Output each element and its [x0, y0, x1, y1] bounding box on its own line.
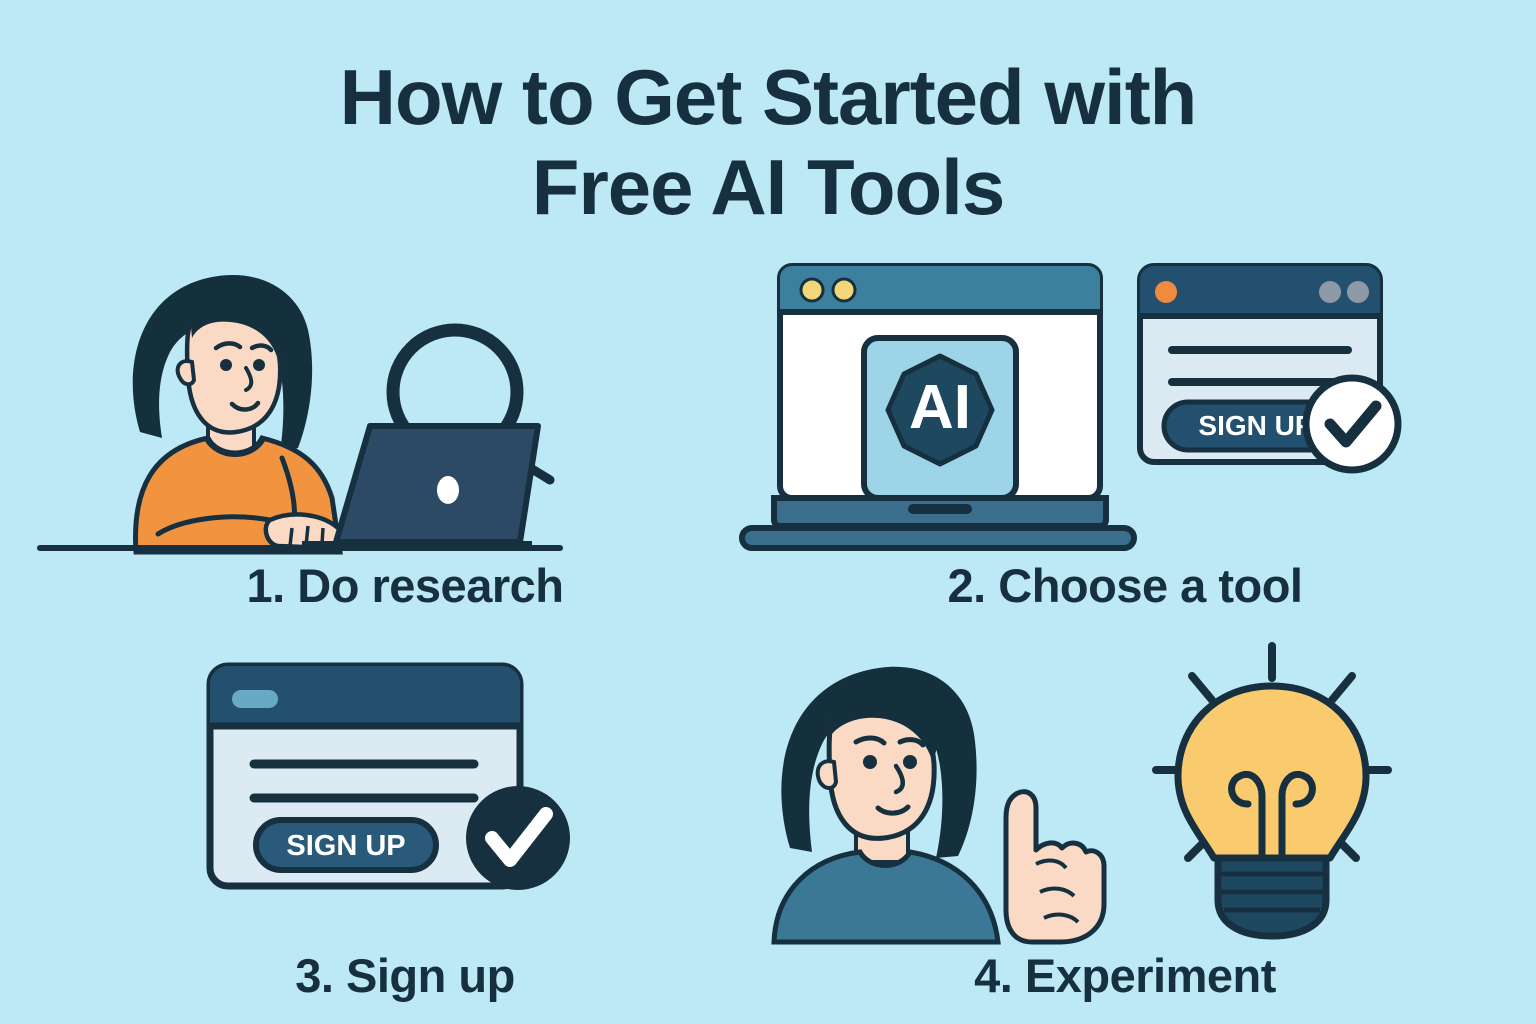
- signup-button-label: SIGN UP: [286, 830, 405, 862]
- ray-top-right: [1332, 676, 1352, 700]
- step-2-illustration: AI: [760, 252, 1490, 552]
- window-dot-orange: [1155, 281, 1177, 303]
- title-line-2: Free AI Tools: [0, 148, 1536, 228]
- ai-logo-icon: AI: [888, 356, 992, 464]
- window-dot-gray-1: [1319, 281, 1341, 303]
- step-3: SIGN UP 3. Sign up: [40, 642, 770, 1012]
- laptop-with-ai-window: AI: [742, 266, 1134, 548]
- check-badge-icon: [1306, 378, 1398, 470]
- step-3-caption: 3. Sign up: [40, 948, 770, 1003]
- signup-window: SIGN UP: [210, 666, 570, 890]
- step-3-illustration: SIGN UP: [40, 642, 770, 942]
- step-2: AI: [760, 252, 1490, 622]
- check-badge-icon: [466, 786, 570, 890]
- step-1-illustration: [40, 252, 770, 552]
- step-4-illustration: [760, 642, 1490, 942]
- page-title: How to Get Started with Free AI Tools: [0, 58, 1536, 227]
- step-1-caption: 1. Do research: [40, 558, 770, 613]
- window-dot-yellow-1: [801, 279, 823, 301]
- step-2-caption: 2. Choose a tool: [760, 558, 1490, 613]
- window-dot-gray-2: [1347, 281, 1369, 303]
- title-line-1: How to Get Started with: [0, 58, 1536, 138]
- signup-button-label: SIGN UP: [1198, 410, 1313, 441]
- steps-grid: 1. Do research AI: [0, 252, 1536, 1012]
- woman-figure: [133, 275, 347, 552]
- lightbulb-icon: [1156, 646, 1388, 936]
- window-tab-pill: [232, 690, 278, 708]
- step-4: 4. Experiment: [760, 642, 1490, 1012]
- pointing-hand-icon: [1006, 792, 1104, 942]
- window-dot-yellow-2: [833, 279, 855, 301]
- ray-top-left: [1192, 676, 1212, 700]
- signup-button[interactable]: SIGN UP: [256, 820, 436, 870]
- woman-figure: [774, 667, 998, 942]
- infographic-canvas: How to Get Started with Free AI Tools: [0, 0, 1536, 1024]
- step-1: 1. Do research: [40, 252, 770, 622]
- step-4-caption: 4. Experiment: [760, 948, 1490, 1003]
- signup-window: SIGN UP: [1140, 266, 1398, 470]
- ai-logo-text: AI: [909, 373, 971, 442]
